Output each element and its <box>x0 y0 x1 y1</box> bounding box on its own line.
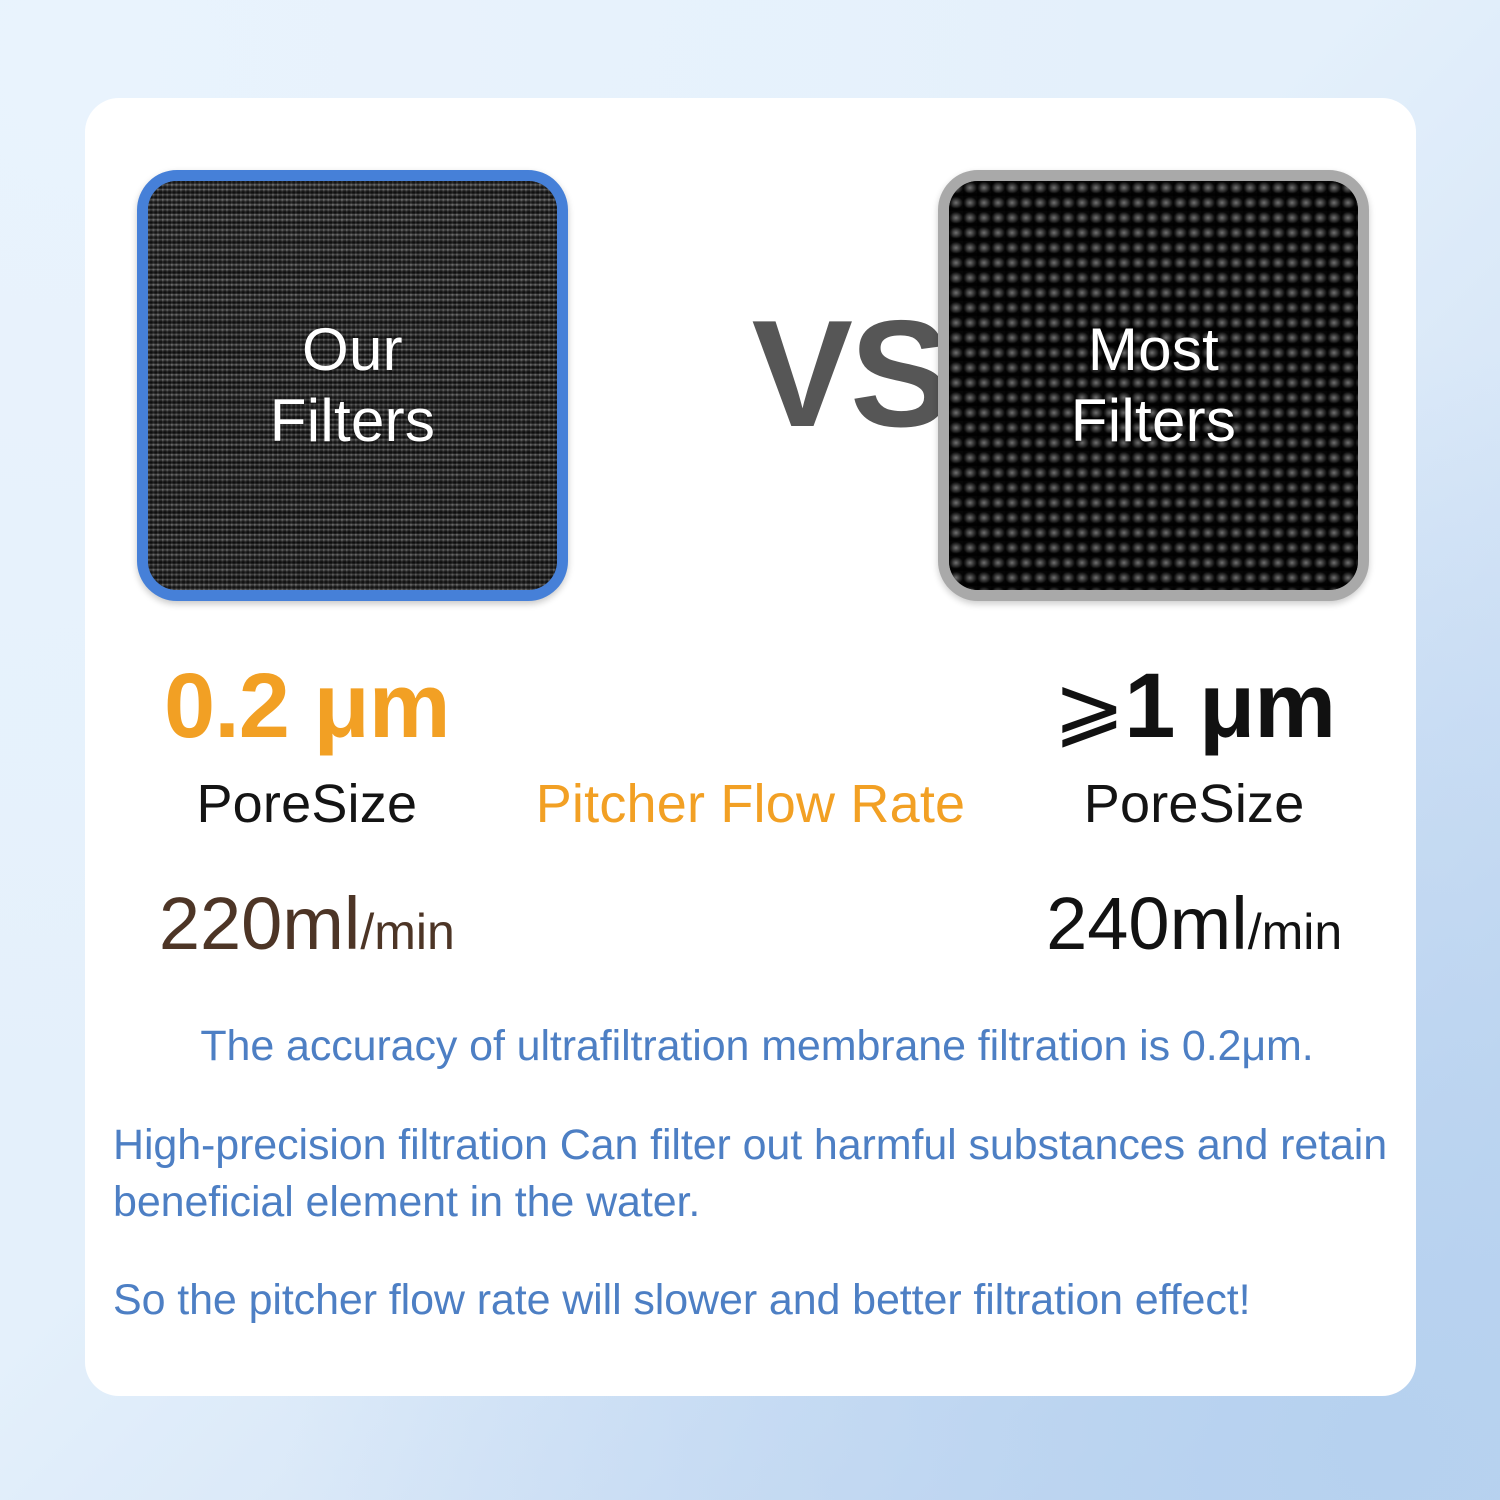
flow-rate-most-cell: 240ml/min <box>972 887 1416 961</box>
pore-size-most-value: ⩾1 μm <box>1053 655 1335 757</box>
pore-size-value-row: 0.2 μm ⩾1 μm <box>85 640 1416 752</box>
flow-rate-most-per: /min <box>1248 904 1342 960</box>
pore-size-ours-number: 0.2 <box>164 655 289 757</box>
most-filters-label: Most Filters <box>1071 315 1236 457</box>
pore-size-label-right-cell: PoreSize <box>972 773 1416 835</box>
flow-rate-ours-value: 220ml/min <box>159 882 455 965</box>
comparison-card: Our Filters VS Most Filters 0.2 μm ⩾1 μm… <box>85 98 1416 1396</box>
flow-rate-ours-per: /min <box>360 904 454 960</box>
our-filters-label: Our Filters <box>270 315 435 457</box>
pore-size-most-unit: μm <box>1199 655 1335 757</box>
description-block: The accuracy of ultrafiltration membrane… <box>107 1018 1407 1329</box>
pore-size-label-right: PoreSize <box>1084 774 1305 834</box>
flow-rate-most-amount: 240ml <box>1046 882 1248 965</box>
pore-size-most-number: 1 <box>1124 655 1174 757</box>
our-filters-label-line1: Our <box>270 315 435 386</box>
description-paragraph-2: High-precision filtration Can filter out… <box>107 1117 1407 1231</box>
greater-equal-icon: ⩾ <box>1053 660 1124 756</box>
pore-size-label-left: PoreSize <box>196 774 417 834</box>
vs-label: VS <box>752 287 949 462</box>
flow-rate-ours-cell: 220ml/min <box>85 887 529 961</box>
description-paragraph-1: The accuracy of ultrafiltration membrane… <box>107 1018 1407 1075</box>
flow-rate-ours-amount: 220ml <box>159 882 361 965</box>
spec-labels-row: PoreSize Pitcher Flow Rate PoreSize <box>85 768 1416 840</box>
flow-rate-most-value: 240ml/min <box>1046 882 1342 965</box>
pore-size-ours-unit: μm <box>314 655 450 757</box>
pore-size-most-cell: ⩾1 μm <box>972 660 1416 752</box>
our-filters-label-line2: Filters <box>270 386 435 457</box>
pore-size-label-left-cell: PoreSize <box>85 773 529 835</box>
pore-size-ours-value: 0.2 μm <box>164 655 450 757</box>
description-paragraph-3: So the pitcher flow rate will slower and… <box>107 1272 1407 1329</box>
our-filters-panel: Our Filters <box>137 170 568 601</box>
flow-rate-label-cell: Pitcher Flow Rate <box>529 773 973 835</box>
most-filters-label-line1: Most <box>1071 315 1236 386</box>
flow-rate-value-row: 220ml/min 240ml/min <box>85 876 1416 972</box>
pitcher-flow-rate-label: Pitcher Flow Rate <box>536 774 966 834</box>
filter-panels-row: Our Filters VS Most Filters <box>85 170 1416 605</box>
most-filters-panel: Most Filters <box>938 170 1369 601</box>
pore-size-ours-cell: 0.2 μm <box>85 660 529 752</box>
most-filters-label-line2: Filters <box>1071 386 1236 457</box>
